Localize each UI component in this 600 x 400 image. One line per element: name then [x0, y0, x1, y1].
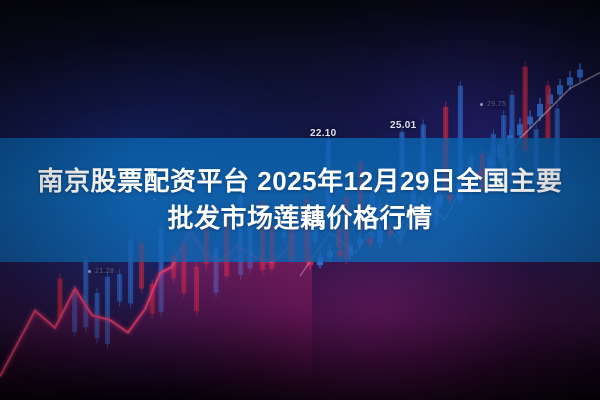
- price-label-29-75: 29.75: [480, 101, 506, 108]
- price-label-text: 29.75: [487, 101, 506, 108]
- title-line-2: 批发市场莲藕价格行情: [167, 204, 432, 233]
- price-label-text: 21.28: [95, 268, 114, 275]
- banner-image: 22.1025.0129.7524.6818.0718.7521.28 南京股票…: [0, 0, 600, 400]
- price-label-text: 25.01: [390, 120, 417, 131]
- title-line-1: 南京股票配资平台 2025年12月29日全国主要: [38, 167, 563, 196]
- price-marker-dot: [88, 270, 91, 273]
- price-label-21-28: 21.28: [88, 268, 114, 275]
- price-marker-dot: [480, 103, 483, 106]
- price-label-25-01: 25.01: [390, 120, 417, 131]
- title-block: 南京股票配资平台 2025年12月29日全国主要 批发市场莲藕价格行情: [0, 138, 600, 262]
